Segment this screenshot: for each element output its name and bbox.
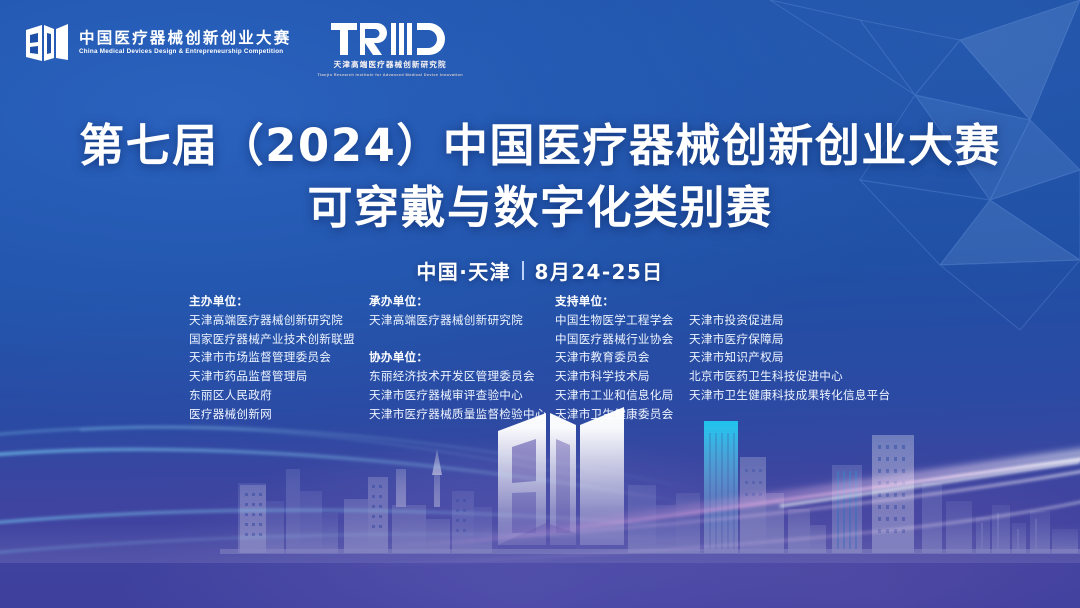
triid-logo-en: Tianjin Research Institute for Advanced …: [317, 73, 463, 77]
triid-wordmark-icon: [331, 23, 449, 57]
organizer-heading: 承办单位：: [369, 292, 555, 311]
supporter-column: 支持单位： 中国生物医学工程学会 中国医疗器械行业协会 天津市教育委员会 天津市…: [555, 292, 899, 423]
host-item: 天津高端医疗器械创新研究院: [189, 311, 369, 330]
host-item: 国家医疗器械产业技术创新联盟: [189, 330, 369, 349]
gate-building-motif: [498, 407, 624, 551]
supporter-heading: 支持单位：: [555, 292, 689, 311]
organizer-column: 承办单位： 天津高端医疗器械创新研究院 协办单位： 东丽经济技术开发区管理委员会…: [369, 292, 555, 423]
supporter-item: 天津市工业和信息化局: [555, 386, 689, 405]
cmde-logo: 中国医疗器械创新创业大赛 China Medical Devices Desig…: [24, 22, 291, 64]
host-heading: 主办单位：: [189, 292, 369, 311]
supporter-item: 中国生物医学工程学会: [555, 311, 689, 330]
cmde-logo-cn: 中国医疗器械创新创业大赛: [79, 31, 291, 47]
organizer-item: 天津高端医疗器械创新研究院: [369, 311, 555, 330]
supporter-subcolumn-right: 天津市投资促进局 天津市医疗保障局 天津市知识产权局 北京市医药卫生科技促进中心…: [689, 292, 899, 423]
supporter-item: 天津市知识产权局: [689, 348, 899, 367]
triid-logo-cn: 天津高端医疗器械创新研究院: [334, 61, 447, 69]
host-item: 东丽区人民政府: [189, 386, 369, 405]
cmde-logo-text: 中国医疗器械创新创业大赛 China Medical Devices Desig…: [79, 31, 291, 56]
supporter-subcolumn-left: 支持单位： 中国生物医学工程学会 中国医疗器械行业协会 天津市教育委员会 天津市…: [555, 292, 689, 423]
event-dateline: 中国·天津 8月24-25日: [0, 256, 1080, 285]
co-organizer-item: 东丽经济技术开发区管理委员会: [369, 367, 555, 386]
supporter-item: 天津市科学技术局: [555, 367, 689, 386]
column-spacer: [369, 330, 555, 349]
supporter-item: 天津市教育委员会: [555, 348, 689, 367]
supporter-item: 天津市投资促进局: [689, 311, 899, 330]
host-item: 天津市市场监督管理委员会: [189, 348, 369, 367]
bottom-tint: [0, 428, 1080, 608]
co-organizer-item: 天津市医疗器械质量监督检验中心: [369, 405, 555, 424]
dateline-divider: [522, 261, 524, 280]
co-organizer-heading: 协办单位：: [369, 348, 555, 367]
host-item: 天津市药品监督管理局: [189, 367, 369, 386]
poster-canvas: 中国医疗器械创新创业大赛 China Medical Devices Desig…: [0, 0, 1080, 608]
main-title: 第七届（2024）中国医疗器械创新创业大赛 可穿戴与数字化类别赛: [0, 118, 1080, 236]
supporter-item: 北京市医药卫生科技促进中心: [689, 367, 899, 386]
supporter-item: 中国医疗器械行业协会: [555, 330, 689, 349]
supporter-item: 天津市医疗保障局: [689, 330, 899, 349]
event-date: 8月24-25日: [535, 256, 664, 285]
event-location: 中国·天津: [416, 256, 511, 285]
supporter-item: 天津市卫生健康委员会: [555, 405, 689, 424]
title-line-2: 可穿戴与数字化类别赛: [0, 180, 1080, 236]
host-item: 医疗器械创新网: [189, 405, 369, 424]
host-column: 主办单位： 天津高端医疗器械创新研究院 国家医疗器械产业技术创新联盟 天津市市场…: [189, 292, 369, 423]
header-logos: 中国医疗器械创新创业大赛 China Medical Devices Desig…: [24, 22, 463, 77]
open-door-logo-mark: [24, 22, 70, 64]
title-line-1: 第七届（2024）中国医疗器械创新创业大赛: [0, 118, 1080, 174]
organizations-block: 主办单位： 天津高端医疗器械创新研究院 国家医疗器械产业技术创新联盟 天津市市场…: [189, 292, 899, 423]
triid-logo: 天津高端医疗器械创新研究院 Tianjin Research Institute…: [317, 22, 463, 77]
supporter-item: 天津市卫生健康科技成果转化信息平台: [689, 386, 899, 405]
cmde-logo-en: China Medical Devices Design & Entrepren…: [79, 49, 291, 55]
co-organizer-item: 天津市医疗器械审评查验中心: [369, 386, 555, 405]
